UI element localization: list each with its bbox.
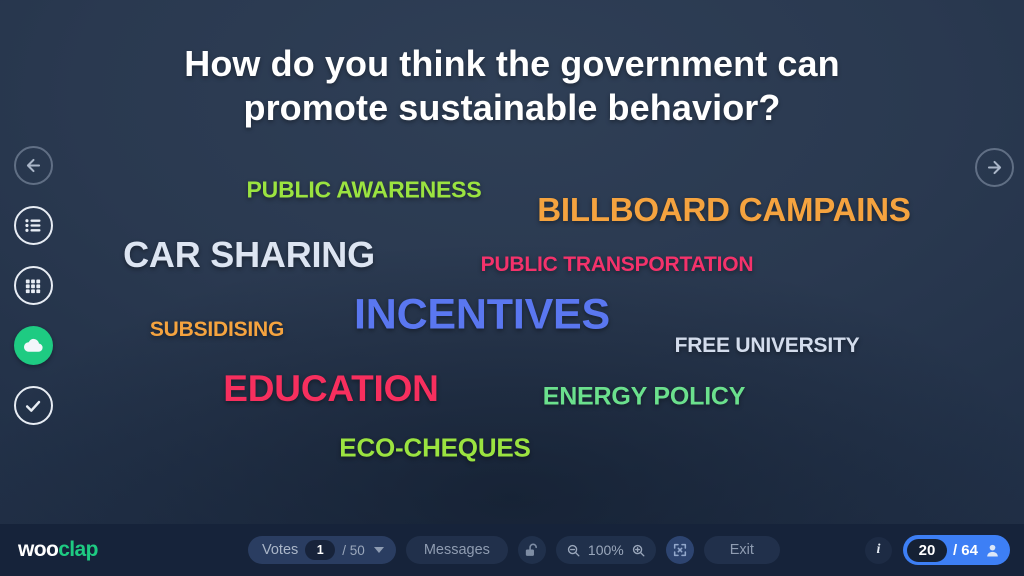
info-icon: i: [877, 542, 881, 558]
check-icon: [23, 396, 43, 416]
zoom-out-icon[interactable]: [566, 543, 581, 558]
expand-icon: [672, 542, 688, 558]
person-icon: [984, 542, 1001, 559]
cloud-word[interactable]: CAR SHARING: [123, 234, 375, 276]
sidebar-item-cloud-view[interactable]: [14, 326, 53, 365]
left-toolbar: [12, 146, 54, 425]
cloud-word[interactable]: BILLBOARD CAMPAINS: [537, 191, 910, 229]
bottom-toolbar: wooclap Votes 1 / 50 Messages: [0, 524, 1024, 576]
exit-button[interactable]: Exit: [704, 536, 780, 564]
chevron-down-icon: [374, 547, 384, 553]
fullscreen-button[interactable]: [666, 536, 694, 564]
cloud-icon: [22, 334, 45, 357]
right-toolbar: [975, 148, 1014, 187]
zoom-in-icon[interactable]: [631, 543, 646, 558]
participants-counter[interactable]: 20 / 64: [903, 535, 1010, 565]
messages-label: Messages: [424, 542, 490, 558]
arrow-left-icon: [24, 156, 43, 175]
cloud-word[interactable]: ENERGY POLICY: [543, 383, 746, 412]
sidebar-item-list-view[interactable]: [14, 206, 53, 245]
previous-question-button[interactable]: [14, 146, 53, 185]
unlock-icon: [523, 542, 540, 559]
page-title: How do you think the government can prom…: [112, 42, 912, 130]
exit-label: Exit: [730, 542, 754, 558]
info-button[interactable]: i: [865, 537, 892, 564]
zoom-control[interactable]: 100%: [556, 536, 656, 564]
participants-current: 20: [907, 539, 947, 562]
participants-total: / 64: [953, 542, 978, 559]
cloud-word[interactable]: PUBLIC TRANSPORTATION: [481, 253, 754, 277]
cloud-word[interactable]: INCENTIVES: [354, 291, 610, 340]
logo-text-secondary: clap: [58, 538, 98, 561]
messages-button[interactable]: Messages: [406, 536, 508, 564]
next-question-button[interactable]: [975, 148, 1014, 187]
cloud-word[interactable]: SUBSIDISING: [150, 318, 284, 342]
presentation-stage: How do you think the government can prom…: [0, 0, 1024, 524]
list-icon: [23, 215, 44, 236]
arrow-right-icon: [985, 158, 1004, 177]
votes-count-badge: 1: [305, 540, 335, 560]
zoom-level-label: 100%: [588, 542, 624, 558]
cloud-word[interactable]: EDUCATION: [223, 368, 438, 410]
sidebar-item-grid-view[interactable]: [14, 266, 53, 305]
toolbar-center-group: Votes 1 / 50 Messages 1: [248, 536, 780, 564]
cloud-word[interactable]: PUBLIC AWARENESS: [247, 177, 482, 204]
votes-total: / 50: [342, 543, 365, 558]
votes-dropdown[interactable]: Votes 1 / 50: [248, 536, 396, 564]
logo-text-primary: woo: [18, 538, 58, 561]
votes-label: Votes: [262, 542, 298, 558]
cloud-word[interactable]: ECO-CHEQUES: [339, 433, 530, 464]
toolbar-right-group: i 20 / 64: [865, 535, 1010, 565]
grid-icon: [23, 276, 43, 296]
cloud-word[interactable]: FREE UNIVERSITY: [675, 334, 860, 358]
sidebar-item-results-view[interactable]: [14, 386, 53, 425]
wooclap-logo[interactable]: wooclap: [18, 538, 98, 562]
wooclap-presentation-screen: How do you think the government can prom…: [0, 0, 1024, 576]
lock-toggle-button[interactable]: [518, 536, 546, 564]
